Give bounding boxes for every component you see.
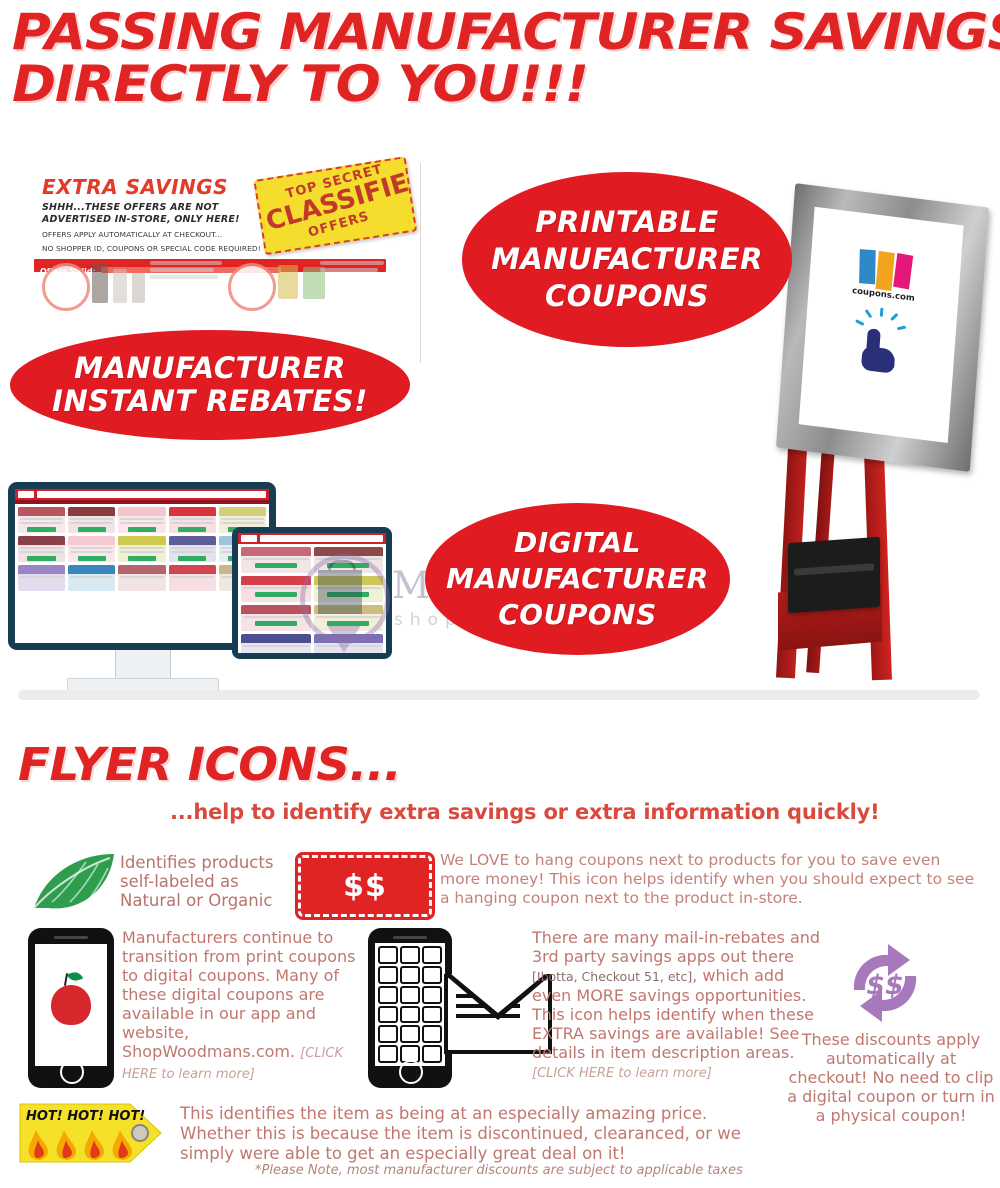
app-header-bar [15, 489, 269, 500]
hot-price-tag-icon: HOT! HOT! HOT! [18, 1100, 166, 1166]
coupon-tile [169, 536, 216, 562]
coupon-kiosk-photo: coupons.com [760, 190, 1000, 690]
callout-text: MANUFACTURER INSTANT REBATES! [52, 352, 368, 418]
monitor-screen [15, 489, 269, 643]
coupon-tile [118, 536, 165, 562]
auto-discount-description: These discounts apply automatically at c… [786, 1030, 996, 1125]
flyer-offer-2 [228, 263, 276, 311]
headline-line-2: DIRECTLY TO YOU!!! [12, 58, 1000, 110]
offer-badge-circle [42, 263, 90, 311]
svg-text:HOT! HOT! HOT!: HOT! HOT! HOT! [26, 1109, 145, 1124]
app-search-bar [260, 535, 383, 542]
app-logo-icon [18, 491, 34, 498]
coupon-badge-label: $$ [343, 869, 387, 904]
flyer-icons-subtitle: ...help to identify extra savings or ext… [170, 800, 880, 824]
flyer-icons-heading: FLYER ICONS... [18, 738, 386, 791]
headline-line-1: PASSING MANUFACTURER SAVINGS [12, 6, 1000, 58]
phone-home-button [399, 1060, 423, 1084]
flyer-offer-1 [42, 263, 90, 311]
offer-badge-circle [228, 263, 276, 311]
digital-coupons-body: Manufacturers continue to transition fro… [122, 928, 355, 1061]
coupon-tile [118, 565, 165, 591]
phone-app-grid [375, 943, 445, 1066]
flyer-fineprint-2: NO SHOPPER ID, COUPONS OR SPECIAL CODE R… [42, 244, 420, 253]
phone-apple-icon [28, 928, 114, 1088]
phone-speaker [393, 936, 427, 939]
coupon-tile [68, 507, 115, 533]
tap-hand-icon [851, 304, 909, 377]
dollar-coupon-icon: $$ [298, 855, 432, 917]
phone-speaker [54, 936, 88, 939]
coupon-tile [18, 565, 65, 591]
tax-disclaimer-note: *Please Note, most manufacturer discount… [255, 1163, 743, 1178]
hanging-coupon-description: We LOVE to hang coupons next to products… [440, 851, 985, 908]
recycle-dollars-icon: $$ [830, 938, 940, 1028]
flyer-product-group-1 [92, 263, 145, 307]
page-headline: PASSING MANUFACTURER SAVINGS DIRECTLY TO… [12, 6, 992, 110]
flyer-offer-text-1 [150, 261, 222, 279]
hot-price-description: This identifies the item as being at an … [180, 1104, 780, 1164]
coupons-com-logo-icon [858, 243, 913, 289]
callout-digital-manufacturer-coupons: DIGITAL MANUFACTURER COUPONS [425, 503, 730, 655]
app-coupon-grid [15, 504, 269, 594]
digital-coupons-description: Manufacturers continue to transition fro… [122, 928, 360, 1084]
app-search-bar [37, 491, 266, 498]
coupon-tile [18, 507, 65, 533]
kiosk-printer [788, 537, 880, 613]
monitor-neck [115, 650, 171, 678]
callout-text: DIGITAL MANUFACTURER COUPONS [446, 525, 709, 633]
rebate-link[interactable]: [CLICK HERE to learn more] [532, 1066, 712, 1081]
callout-printable-manufacturer-coupons: PRINTABLE MANUFACTURER COUPONS [462, 172, 792, 347]
flyer-icons-title: FLYER ICONS... [18, 738, 401, 791]
phone-home-button [60, 1060, 84, 1084]
coupon-tile [68, 536, 115, 562]
leaf-description: Identifies products self-labeled as Natu… [120, 853, 300, 910]
coupon-tile [118, 507, 165, 533]
coupon-tile [68, 565, 115, 591]
printer-slot [794, 563, 874, 576]
callout-text: PRINTABLE MANUFACTURER COUPONS [491, 204, 763, 315]
phone-screen [35, 944, 107, 1066]
kiosk-display-content: coupons.com [799, 207, 964, 443]
flyer-product-group-2 [278, 265, 325, 303]
kiosk-display-frame: coupons.com [776, 183, 989, 472]
coupon-tile [18, 536, 65, 562]
coupon-tile [169, 565, 216, 591]
mail-in-rebate-description: There are many mail-in-rebates and 3rd p… [532, 928, 822, 1083]
svg-text:$$: $$ [866, 970, 904, 1001]
app-logo-icon [241, 535, 257, 542]
apple-icon [51, 985, 91, 1025]
coupon-tile [169, 507, 216, 533]
section-divider [18, 690, 980, 700]
watermark-bag-icon [318, 570, 362, 614]
leaf-icon [30, 852, 116, 914]
rebate-apps-list: [Ibotta, Checkout 51, etc] [532, 969, 692, 984]
callout-manufacturer-instant-rebates: MANUFACTURER INSTANT REBATES! [10, 330, 410, 440]
rebate-body-1: There are many mail-in-rebates and 3rd p… [532, 928, 820, 966]
flyer-offer-text-2 [320, 261, 384, 272]
app-header-bar [238, 533, 386, 544]
